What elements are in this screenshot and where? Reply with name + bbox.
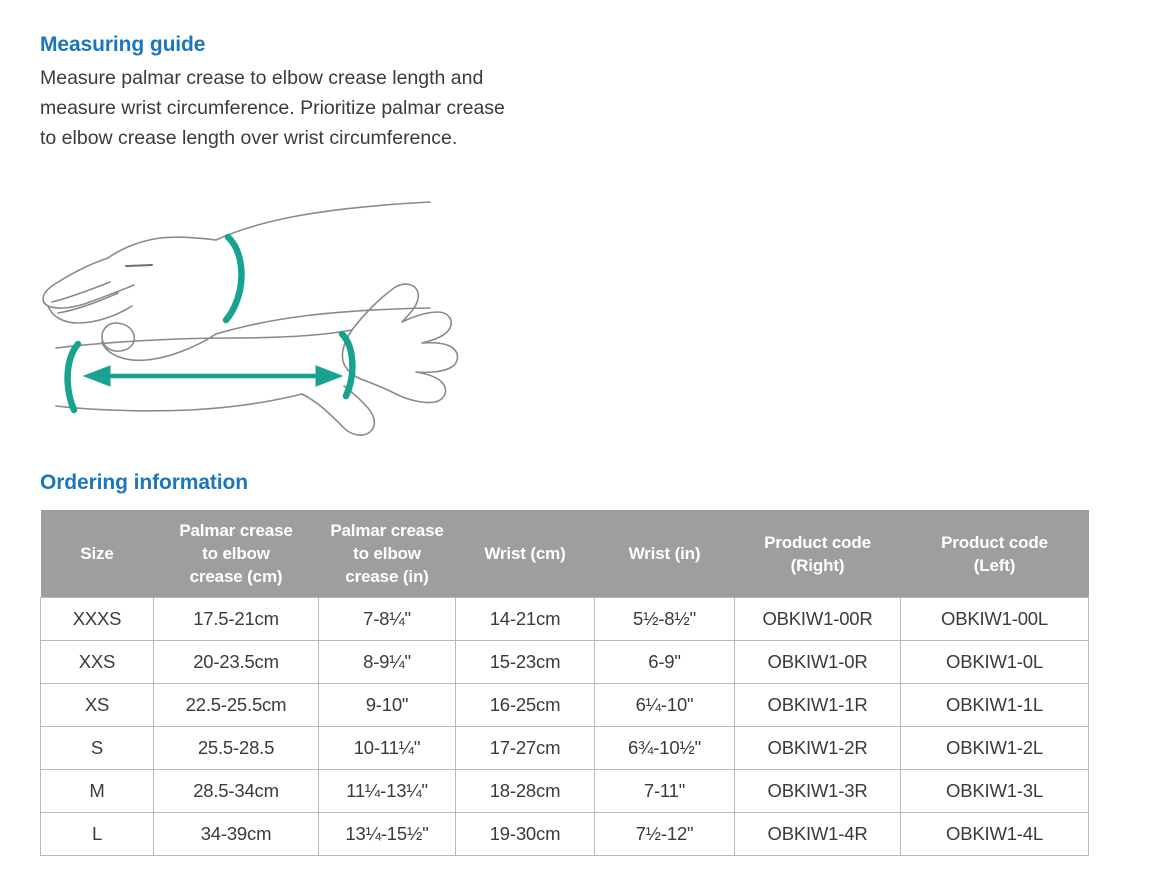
cell-wrist-cm: 16-25cm [456, 684, 595, 727]
cell-code-left: OBKIW1-1L [901, 684, 1089, 727]
cell-wrist-cm: 18-28cm [456, 770, 595, 813]
cell-code-right: OBKIW1-2R [735, 727, 901, 770]
cell-code-left: OBKIW1-0L [901, 641, 1089, 684]
ordering-table-wrapper: Size Palmar crease to elbow crease (cm) … [40, 510, 1088, 856]
cell-wrist-cm: 14-21cm [456, 598, 595, 641]
cell-palmar-cm: 20-23.5cm [154, 641, 319, 684]
cell-size: XS [41, 684, 154, 727]
column-header-wrist-in: Wrist (in) [595, 510, 735, 598]
column-header-line: crease (cm) [190, 567, 283, 586]
cell-code-right: OBKIW1-00R [735, 598, 901, 641]
ordering-information-title: Ordering information [40, 471, 248, 495]
ordering-table: Size Palmar crease to elbow crease (cm) … [40, 510, 1089, 856]
cell-code-right: OBKIW1-3R [735, 770, 901, 813]
measuring-guide-text: Measure palmar crease to elbow crease le… [40, 63, 520, 153]
cell-palmar-cm: 22.5-25.5cm [154, 684, 319, 727]
column-header-line: Size [80, 544, 113, 563]
cell-palmar-cm: 28.5-34cm [154, 770, 319, 813]
cell-wrist-in: 7½-12" [595, 813, 735, 856]
column-header-product-code-right: Product code (Right) [735, 510, 901, 598]
column-header-line: to elbow [353, 544, 421, 563]
cell-code-right: OBKIW1-4R [735, 813, 901, 856]
cell-wrist-in: 6¼-10" [595, 684, 735, 727]
cell-code-left: OBKIW1-2L [901, 727, 1089, 770]
sizing-guide-page: Measuring guide Measure palmar crease to… [0, 0, 1156, 893]
cell-palmar-in: 10-11¼" [319, 727, 456, 770]
cell-wrist-cm: 17-27cm [456, 727, 595, 770]
column-header-line: to elbow [202, 544, 270, 563]
column-header-product-code-left: Product code (Left) [901, 510, 1089, 598]
cell-wrist-cm: 19-30cm [456, 813, 595, 856]
column-header-line: Wrist (in) [629, 544, 701, 563]
cell-palmar-cm: 34-39cm [154, 813, 319, 856]
cell-code-right: OBKIW1-0R [735, 641, 901, 684]
cell-wrist-in: 7-11" [595, 770, 735, 813]
cell-code-left: OBKIW1-00L [901, 598, 1089, 641]
column-header-line: (Left) [974, 556, 1016, 575]
cell-size: XXS [41, 641, 154, 684]
column-header-palmar-in: Palmar crease to elbow crease (in) [319, 510, 456, 598]
column-header-line: Product code [941, 533, 1048, 552]
cell-palmar-in: 8-9¼" [319, 641, 456, 684]
column-header-line: (Right) [791, 556, 845, 575]
cell-palmar-in: 13¼-15½" [319, 813, 456, 856]
cell-palmar-cm: 25.5-28.5 [154, 727, 319, 770]
measuring-guide-title: Measuring guide [40, 32, 600, 57]
table-body: XXXS 17.5-21cm 7-8¼" 14-21cm 5½-8½" OBKI… [41, 598, 1089, 856]
column-header-line: Palmar crease [330, 521, 443, 540]
table-row: S 25.5-28.5 10-11¼" 17-27cm 6¾-10½" OBKI… [41, 727, 1089, 770]
cell-palmar-cm: 17.5-21cm [154, 598, 319, 641]
table-row: L 34-39cm 13¼-15½" 19-30cm 7½-12" OBKIW1… [41, 813, 1089, 856]
table-row: XS 22.5-25.5cm 9-10" 16-25cm 6¼-10" OBKI… [41, 684, 1089, 727]
cell-code-left: OBKIW1-3L [901, 770, 1089, 813]
column-header-line: Product code [764, 533, 871, 552]
table-row: XXS 20-23.5cm 8-9¼" 15-23cm 6-9" OBKIW1-… [41, 641, 1089, 684]
cell-wrist-in: 5½-8½" [595, 598, 735, 641]
cell-size: S [41, 727, 154, 770]
column-header-wrist-cm: Wrist (cm) [456, 510, 595, 598]
cell-code-left: OBKIW1-4L [901, 813, 1089, 856]
table-row: M 28.5-34cm 11¼-13¼" 18-28cm 7-11" OBKIW… [41, 770, 1089, 813]
measuring-illustration [30, 186, 470, 456]
column-header-line: Palmar crease [179, 521, 292, 540]
column-header-line: crease (in) [345, 567, 428, 586]
column-header-size: Size [41, 510, 154, 598]
measuring-guide-section: Measuring guide Measure palmar crease to… [40, 32, 600, 153]
table-header: Size Palmar crease to elbow crease (cm) … [41, 510, 1089, 598]
cell-palmar-in: 11¼-13¼" [319, 770, 456, 813]
column-header-palmar-cm: Palmar crease to elbow crease (cm) [154, 510, 319, 598]
cell-code-right: OBKIW1-1R [735, 684, 901, 727]
table-row: XXXS 17.5-21cm 7-8¼" 14-21cm 5½-8½" OBKI… [41, 598, 1089, 641]
cell-wrist-in: 6-9" [595, 641, 735, 684]
table-header-row: Size Palmar crease to elbow crease (cm) … [41, 510, 1089, 598]
cell-size: XXXS [41, 598, 154, 641]
cell-wrist-cm: 15-23cm [456, 641, 595, 684]
cell-palmar-in: 9-10" [319, 684, 456, 727]
cell-wrist-in: 6¾-10½" [595, 727, 735, 770]
cell-palmar-in: 7-8¼" [319, 598, 456, 641]
cell-size: L [41, 813, 154, 856]
column-header-line: Wrist (cm) [484, 544, 565, 563]
cell-size: M [41, 770, 154, 813]
